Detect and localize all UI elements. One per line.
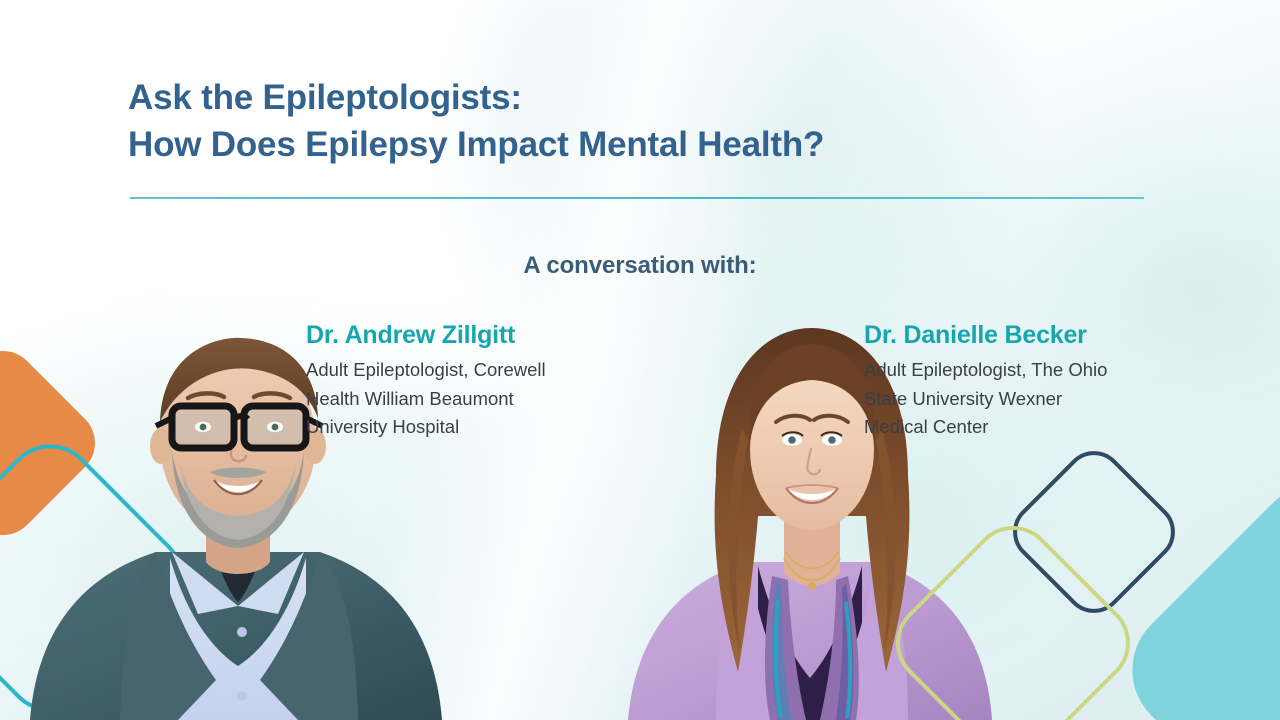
- page-title: Ask the Epileptologists: How Does Epilep…: [128, 74, 1088, 168]
- presentation-slide: Ask the Epileptologists: How Does Epilep…: [0, 0, 1280, 720]
- speaker-block-1: Dr. Andrew Zillgitt Adult Epileptologist…: [306, 318, 646, 442]
- conversation-label: A conversation with:: [0, 252, 1280, 280]
- speaker-1-role: Adult Epileptologist, Corewell Health Wi…: [306, 356, 646, 442]
- speaker-1-name: Dr. Andrew Zillgitt: [306, 318, 646, 352]
- speaker-2-name: Dr. Danielle Becker: [864, 318, 1204, 352]
- speaker-block-2: Dr. Danielle Becker Adult Epileptologist…: [864, 318, 1204, 442]
- title-divider: [130, 197, 1144, 199]
- speaker-2-role: Adult Epileptologist, The Ohio State Uni…: [864, 356, 1204, 442]
